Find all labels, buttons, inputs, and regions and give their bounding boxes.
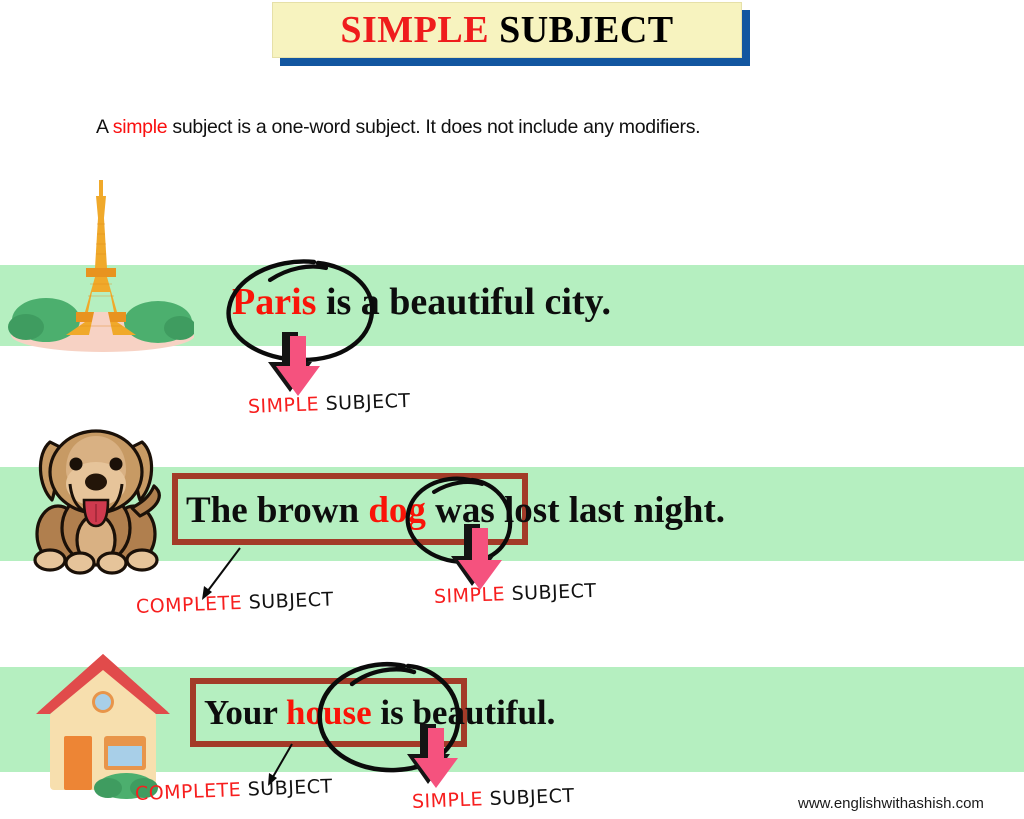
simple-subject-house: house (286, 693, 372, 732)
label-complete-red: COMPLETE (135, 779, 242, 805)
eiffel-tower-illustration (8, 172, 194, 357)
label-simple-red: SIMPLE (248, 393, 320, 418)
title-banner-box: SIMPLE SUBJECT (272, 2, 742, 58)
subtitle-after: subject is a one-word subject. It does n… (167, 116, 700, 138)
simple-subject-dog: dog (368, 490, 426, 531)
label-simple-subject-house: SIMPLE SUBJECT (412, 785, 575, 813)
simple-subject-paris: Paris (232, 281, 316, 323)
title-highlight: SIMPLE (340, 9, 489, 51)
sentence-rest-dog: was lost last night. (426, 490, 725, 531)
sentence-rest-paris: is a beautiful city. (316, 281, 611, 323)
title-banner: SIMPLE SUBJECT (272, 2, 750, 66)
subtitle-definition: A simple subject is a one-word subject. … (96, 116, 700, 139)
title-rest: SUBJECT (489, 9, 674, 51)
label-complete-black: SUBJECT (241, 775, 333, 800)
label-simple-subject-paris: SIMPLE SUBJECT (248, 390, 411, 418)
sentence-rest-house: is beautiful. (372, 693, 556, 732)
label-simple-black: SUBJECT (319, 390, 411, 415)
example-sentence-paris: Paris is a beautiful city. (232, 283, 611, 321)
label-simple-black: SUBJECT (483, 785, 575, 810)
example-sentence-house: Your house is beautiful. (204, 695, 555, 730)
sentence-before-house: Your (204, 693, 286, 732)
label-complete-red: COMPLETE (136, 592, 243, 618)
sentence-before-dog: The brown (186, 490, 368, 531)
subtitle-highlight: simple (113, 116, 168, 138)
label-simple-black: SUBJECT (505, 580, 597, 605)
page-title: SIMPLE SUBJECT (340, 11, 673, 49)
example-sentence-dog: The brown dog was lost last night. (186, 492, 725, 529)
house-illustration (32, 650, 174, 800)
subtitle-before: A (96, 116, 113, 138)
website-credit: www.englishwithashish.com (798, 795, 984, 812)
dog-illustration (22, 424, 170, 576)
label-complete-subject-dog: COMPLETE SUBJECT (136, 588, 335, 618)
label-simple-subject-dog: SIMPLE SUBJECT (434, 580, 597, 608)
label-simple-red: SIMPLE (434, 583, 506, 608)
label-simple-red: SIMPLE (412, 788, 484, 813)
infographic-page: SIMPLE SUBJECT A simple subject is a one… (0, 0, 1024, 819)
label-complete-black: SUBJECT (242, 588, 334, 613)
